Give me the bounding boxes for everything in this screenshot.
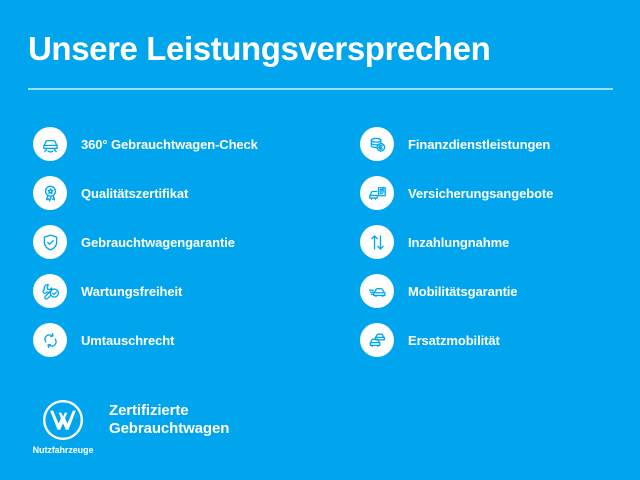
benefit-item-ersatzmobilitaet[interactable]: Ersatzmobilität bbox=[360, 323, 640, 357]
footer-claim-line-2: Gebrauchtwagen bbox=[109, 420, 229, 438]
benefit-label: Gebrauchtwagengarantie bbox=[81, 235, 235, 250]
footer-claim: Zertifizierte Gebrauchtwagen bbox=[109, 402, 229, 438]
two-cars-icon bbox=[360, 323, 394, 357]
benefit-item-mobilitaetsgarantie[interactable]: Mobilitätsgarantie bbox=[360, 274, 640, 308]
footer-brand: Nutzfahrzeuge Zertifizierte Gebrauchtwag… bbox=[28, 398, 229, 455]
benefit-item-wartungsfreiheit[interactable]: Wartungsfreiheit bbox=[33, 274, 313, 308]
page-title: Unsere Leistungsversprechen bbox=[28, 30, 490, 68]
benefit-label: Wartungsfreiheit bbox=[81, 284, 182, 299]
shield-check-icon bbox=[33, 225, 67, 259]
footer-claim-line-1: Zertifizierte bbox=[109, 402, 229, 420]
benefit-label: Inzahlungnahme bbox=[408, 235, 509, 250]
benefit-label: Ersatzmobilität bbox=[408, 333, 500, 348]
vw-sub-label: Nutzfahrzeuge bbox=[33, 445, 94, 455]
benefit-label: Qualitätszertifikat bbox=[81, 186, 188, 201]
moving-car-icon bbox=[360, 274, 394, 308]
benefit-item-qualitaetszertifikat[interactable]: Qualitätszertifikat bbox=[33, 176, 313, 210]
benefit-item-360-gebrauchtwagen-check[interactable]: 360° Gebrauchtwagen-Check bbox=[33, 127, 313, 161]
award-rosette-icon bbox=[33, 176, 67, 210]
benefit-label: Umtauschrecht bbox=[81, 333, 174, 348]
slide-root: Unsere Leistungsversprechen 360° Gebrauc… bbox=[0, 0, 640, 480]
vw-logo-block: Nutzfahrzeuge bbox=[28, 398, 98, 455]
benefit-label: Finanzdienstleistungen bbox=[408, 137, 550, 152]
benefit-column-right: Finanzdienstleistungen Versicherungsange… bbox=[360, 127, 640, 372]
title-divider bbox=[28, 88, 613, 90]
car-checklist-icon bbox=[360, 176, 394, 210]
benefit-item-inzahlungnahme[interactable]: Inzahlungnahme bbox=[360, 225, 640, 259]
benefit-column-left: 360° Gebrauchtwagen-Check Qualitätszerti… bbox=[33, 127, 313, 372]
up-down-arrows-icon bbox=[360, 225, 394, 259]
exchange-arrows-icon bbox=[33, 323, 67, 357]
benefit-item-gebrauchtwagengarantie[interactable]: Gebrauchtwagengarantie bbox=[33, 225, 313, 259]
vw-logo-icon bbox=[41, 398, 85, 442]
benefit-label: 360° Gebrauchtwagen-Check bbox=[81, 137, 258, 152]
benefit-label: Versicherungsangebote bbox=[408, 186, 553, 201]
benefit-item-umtauschrecht[interactable]: Umtauschrecht bbox=[33, 323, 313, 357]
benefit-item-finanzdienstleistungen[interactable]: Finanzdienstleistungen bbox=[360, 127, 640, 161]
wrench-check-icon bbox=[33, 274, 67, 308]
benefit-item-versicherungsangebote[interactable]: Versicherungsangebote bbox=[360, 176, 640, 210]
car-check-icon bbox=[33, 127, 67, 161]
coins-euro-icon bbox=[360, 127, 394, 161]
benefit-label: Mobilitätsgarantie bbox=[408, 284, 517, 299]
